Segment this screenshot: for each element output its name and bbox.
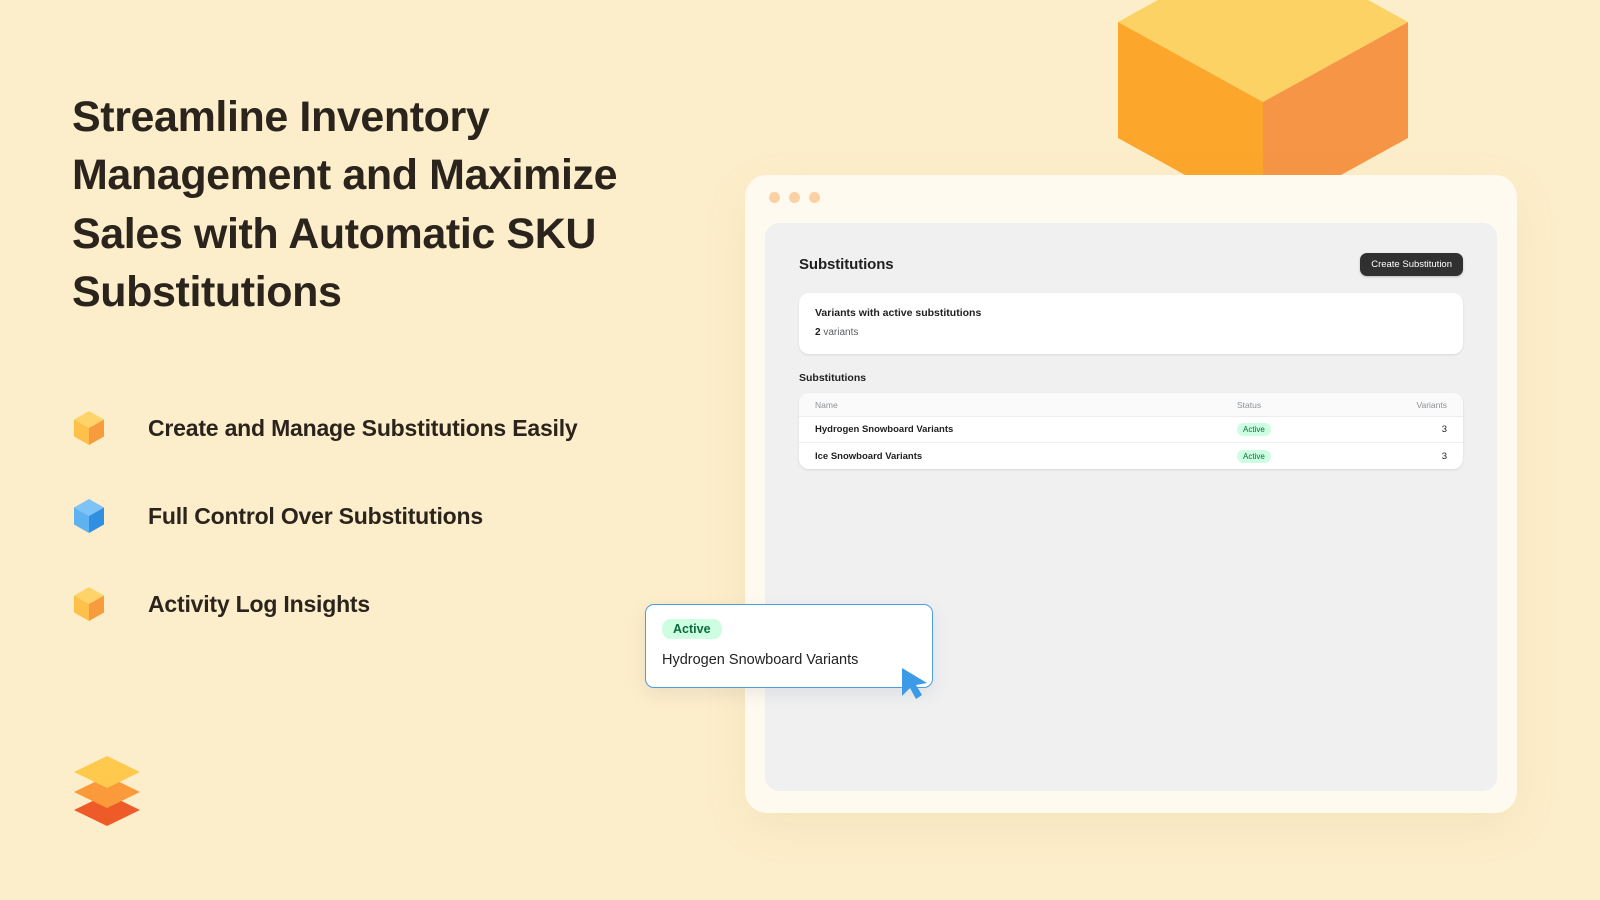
summary-card-title: Variants with active substitutions xyxy=(815,307,1447,319)
cell-status: Active xyxy=(1237,423,1387,436)
minimize-dot-icon[interactable] xyxy=(789,192,800,203)
maximize-dot-icon[interactable] xyxy=(809,192,820,203)
cursor-pointer-icon xyxy=(898,666,930,700)
cube-icon xyxy=(72,497,106,535)
status-badge: Active xyxy=(1237,423,1271,436)
cube-icon xyxy=(72,409,106,447)
substitutions-section-label: Substitutions xyxy=(799,372,1463,384)
app-page-title: Substitutions xyxy=(799,256,894,273)
cell-status: Active xyxy=(1237,450,1387,463)
create-substitution-button[interactable]: Create Substitution xyxy=(1360,253,1463,276)
list-item: Create and Manage Substitutions Easily xyxy=(72,400,732,456)
table-row[interactable]: Ice Snowboard Variants Active 3 xyxy=(799,443,1463,469)
column-header-name: Name xyxy=(815,400,1237,410)
list-item: Activity Log Insights xyxy=(72,576,732,632)
cell-name: Hydrogen Snowboard Variants xyxy=(815,424,1237,435)
page-title: Streamline Inventory Management and Maxi… xyxy=(72,88,732,322)
close-dot-icon[interactable] xyxy=(769,192,780,203)
table-header-row: Name Status Variants xyxy=(799,393,1463,417)
substitution-callout-card[interactable]: Active Hydrogen Snowboard Variants xyxy=(645,604,933,688)
status-badge: Active xyxy=(662,619,722,639)
summary-card-value: 2 variants xyxy=(815,327,1447,338)
page-root: Streamline Inventory Management and Maxi… xyxy=(0,0,1600,900)
stacked-layers-logo xyxy=(70,748,144,826)
app-viewport: Substitutions Create Substitution Varian… xyxy=(765,223,1497,791)
table-row[interactable]: Hydrogen Snowboard Variants Active 3 xyxy=(799,417,1463,443)
callout-title: Hydrogen Snowboard Variants xyxy=(662,652,916,668)
summary-unit: variants xyxy=(823,327,858,338)
cell-variants: 3 xyxy=(1387,424,1447,435)
cell-variants: 3 xyxy=(1387,451,1447,462)
summary-card: Variants with active substitutions 2 var… xyxy=(799,293,1463,354)
column-header-status: Status xyxy=(1237,400,1387,410)
feature-label: Activity Log Insights xyxy=(148,591,370,618)
feature-list: Create and Manage Substitutions Easily F… xyxy=(72,400,732,664)
list-item: Full Control Over Substitutions xyxy=(72,488,732,544)
hero-copy: Streamline Inventory Management and Maxi… xyxy=(72,88,732,322)
feature-label: Full Control Over Substitutions xyxy=(148,503,483,530)
substitutions-table: Name Status Variants Hydrogen Snowboard … xyxy=(799,393,1463,469)
column-header-variants: Variants xyxy=(1387,400,1447,410)
feature-label: Create and Manage Substitutions Easily xyxy=(148,415,578,442)
app-header: Substitutions Create Substitution xyxy=(799,253,1463,276)
window-titlebar xyxy=(745,175,1517,219)
cell-name: Ice Snowboard Variants xyxy=(815,451,1237,462)
status-badge: Active xyxy=(1237,450,1271,463)
browser-window: Substitutions Create Substitution Varian… xyxy=(745,175,1517,813)
summary-count: 2 xyxy=(815,327,821,338)
cube-icon xyxy=(72,585,106,623)
